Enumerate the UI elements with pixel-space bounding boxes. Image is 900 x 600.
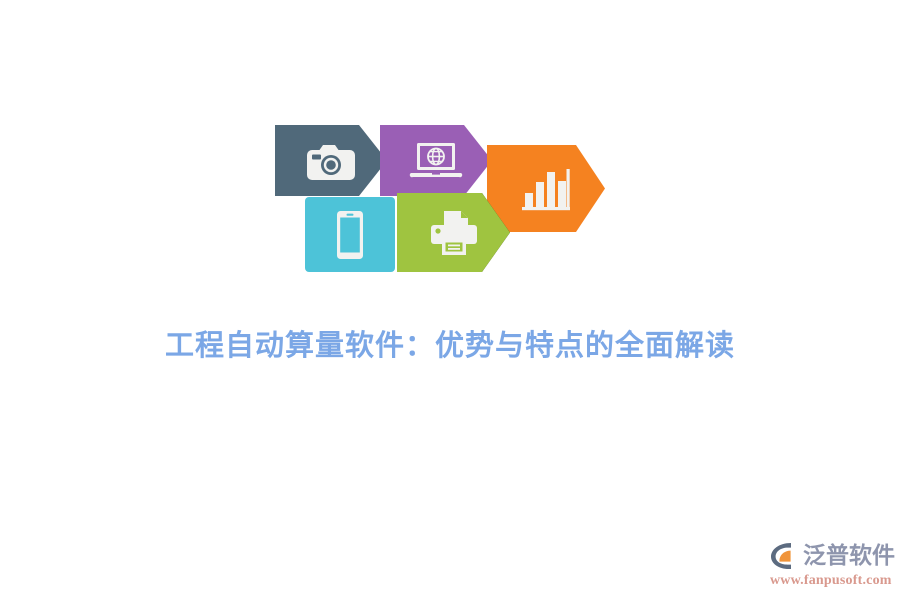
brand-logo[interactable]: 泛普软件 www.fanpusoft.com [770, 540, 892, 590]
tile-smartphone[interactable] [305, 197, 395, 272]
smartphone-icon [305, 197, 395, 272]
printer-icon [397, 193, 510, 272]
camera-icon [275, 125, 387, 196]
tile-printer[interactable] [397, 193, 510, 272]
tile-laptop[interactable] [380, 125, 492, 196]
laptop-globe-icon [380, 125, 492, 196]
brand-url: www.fanpusoft.com [770, 573, 892, 589]
tile-camera[interactable] [275, 125, 387, 196]
page-title: 工程自动算量软件：优势与特点的全面解读 [0, 322, 900, 364]
fanpu-logo-mark-icon [770, 542, 800, 570]
slide-canvas: 工程自动算量软件：优势与特点的全面解读 泛普软件 www.fanpusoft.c… [0, 0, 900, 600]
brand-name: 泛普软件 [803, 542, 895, 570]
feature-icon-banner [275, 125, 605, 272]
brand-logo-row: 泛普软件 [770, 540, 892, 572]
